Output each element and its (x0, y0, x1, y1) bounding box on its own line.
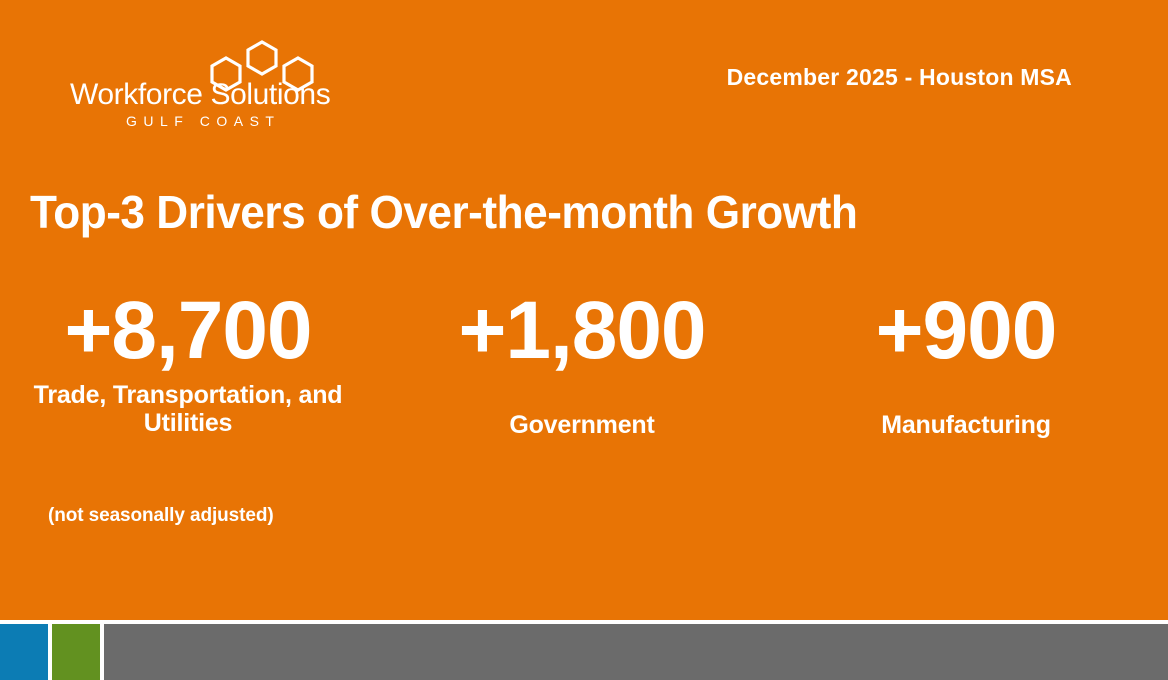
bottom-bar-green-block (52, 624, 100, 680)
bottom-bar (0, 620, 1168, 680)
stat-value-1: +8,700 (8, 292, 368, 369)
logo-subtitle: GULF COAST (70, 114, 330, 128)
stats-row: +8,700 Trade, Transportation, and Utilit… (0, 292, 1168, 492)
logo-wordmark: Workforce Solutions (70, 80, 330, 110)
header-date-region: December 2025 - Houston MSA (727, 64, 1072, 91)
stat-label-3: Manufacturing (820, 411, 1112, 439)
stat-value-3: +900 (820, 292, 1112, 369)
stat-card-2: +1,800 Government (404, 292, 760, 439)
bottom-bar-gray-block (104, 624, 1168, 680)
stat-label-1: Trade, Transportation, and Utilities (8, 381, 368, 437)
footnote: (not seasonally adjusted) (48, 505, 274, 527)
stat-label-2: Government (404, 411, 760, 439)
slide-canvas: Workforce Solutions GULF COAST December … (0, 0, 1168, 680)
stat-card-3: +900 Manufacturing (820, 292, 1112, 439)
stat-card-1: +8,700 Trade, Transportation, and Utilit… (8, 292, 368, 437)
page-title: Top-3 Drivers of Over-the-month Growth (30, 185, 857, 239)
bottom-bar-blue-block (0, 624, 48, 680)
stat-value-2: +1,800 (404, 292, 760, 369)
workforce-solutions-logo: Workforce Solutions GULF COAST (70, 36, 330, 136)
